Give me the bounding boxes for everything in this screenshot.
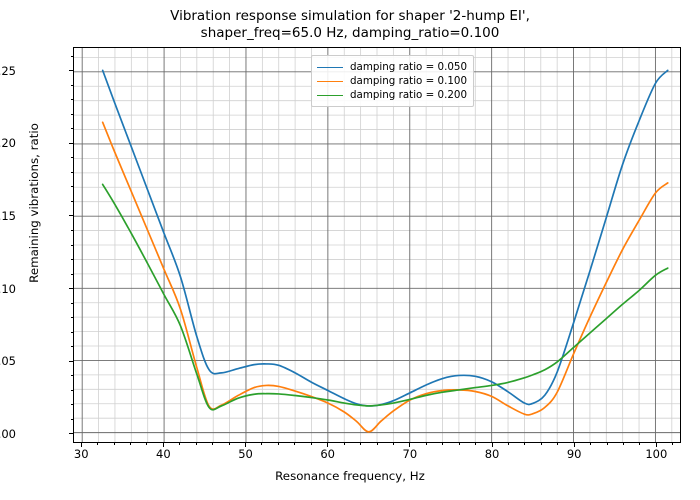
- x-minor-tick-mark: [508, 443, 509, 445]
- y-minor-tick-mark: [71, 99, 73, 100]
- y-tick-mark: [69, 143, 73, 144]
- x-minor-tick-mark: [196, 443, 197, 445]
- y-minor-tick-mark: [71, 186, 73, 187]
- y-minor-tick-mark: [71, 259, 73, 260]
- y-tick-mark: [69, 70, 73, 71]
- legend-item: damping ratio = 0.100: [317, 74, 467, 88]
- x-tick-mark: [327, 443, 328, 447]
- chart-title-line-1: Vibration response simulation for shaper…: [0, 8, 700, 25]
- x-tick-label: 70: [403, 447, 418, 461]
- x-tick-mark: [574, 443, 575, 447]
- y-minor-tick-mark: [71, 303, 73, 304]
- legend-line-swatch-2: [317, 95, 343, 96]
- figure-canvas: Vibration response simulation for shaper…: [0, 0, 700, 500]
- x-minor-tick-mark: [541, 443, 542, 445]
- series-path-2: [103, 184, 668, 409]
- x-minor-tick-mark: [459, 443, 460, 445]
- x-minor-tick-mark: [212, 443, 213, 445]
- y-tick-mark: [69, 215, 73, 216]
- legend-item: damping ratio = 0.200: [317, 88, 467, 102]
- y-tick-label: 0.20: [0, 136, 16, 150]
- x-tick-mark: [163, 443, 164, 447]
- series-path-1: [103, 122, 668, 432]
- x-tick-label: 90: [567, 447, 582, 461]
- x-minor-tick-mark: [639, 443, 640, 445]
- y-minor-tick-mark: [71, 346, 73, 347]
- legend-line-swatch-0: [317, 67, 343, 68]
- x-minor-tick-mark: [261, 443, 262, 445]
- x-minor-tick-mark: [278, 443, 279, 445]
- y-tick-label: 0.05: [0, 354, 16, 368]
- x-minor-tick-mark: [623, 443, 624, 445]
- x-minor-tick-mark: [442, 443, 443, 445]
- x-minor-tick-mark: [426, 443, 427, 445]
- y-minor-tick-mark: [71, 85, 73, 86]
- legend-label-1: damping ratio = 0.100: [350, 75, 467, 87]
- plot-area: damping ratio = 0.050 damping ratio = 0.…: [73, 47, 681, 443]
- x-minor-tick-mark: [607, 443, 608, 445]
- x-tick-mark: [245, 443, 246, 447]
- legend-label-2: damping ratio = 0.200: [350, 89, 467, 101]
- y-minor-tick-mark: [71, 114, 73, 115]
- y-tick-label: 0.00: [0, 427, 16, 441]
- x-tick-mark: [656, 443, 657, 447]
- x-minor-tick-mark: [179, 443, 180, 445]
- x-minor-tick-mark: [590, 443, 591, 445]
- x-minor-tick-mark: [229, 443, 230, 445]
- x-minor-tick-mark: [557, 443, 558, 445]
- y-minor-tick-mark: [71, 230, 73, 231]
- x-minor-tick-mark: [114, 443, 115, 445]
- y-tick-label: 0.10: [0, 282, 16, 296]
- x-minor-tick-mark: [475, 443, 476, 445]
- y-minor-tick-mark: [71, 201, 73, 202]
- x-tick-mark: [409, 443, 410, 447]
- y-minor-tick-mark: [71, 157, 73, 158]
- legend-label-0: damping ratio = 0.050: [350, 61, 467, 73]
- x-minor-tick-mark: [344, 443, 345, 445]
- x-minor-tick-mark: [524, 443, 525, 445]
- y-axis-label: Remaining vibrations, ratio: [27, 73, 41, 333]
- legend[interactable]: damping ratio = 0.050 damping ratio = 0.…: [311, 55, 474, 107]
- series-path-0: [103, 70, 668, 406]
- y-tick-mark: [69, 288, 73, 289]
- x-tick-label: 40: [156, 447, 171, 461]
- y-tick-label: 0.15: [0, 209, 16, 223]
- x-tick-label: 30: [74, 447, 89, 461]
- y-tick-mark: [69, 433, 73, 434]
- x-tick-mark: [492, 443, 493, 447]
- x-minor-tick-mark: [97, 443, 98, 445]
- y-minor-tick-mark: [71, 274, 73, 275]
- chart-title-line-2: shaper_freq=65.0 Hz, damping_ratio=0.100: [0, 25, 700, 42]
- x-tick-label: 80: [485, 447, 500, 461]
- y-minor-tick-mark: [71, 332, 73, 333]
- chart-title: Vibration response simulation for shaper…: [0, 8, 700, 42]
- x-tick-label: 60: [320, 447, 335, 461]
- y-tick-mark: [69, 361, 73, 362]
- x-tick-label: 50: [238, 447, 253, 461]
- x-minor-tick-mark: [377, 443, 378, 445]
- y-minor-tick-mark: [71, 375, 73, 376]
- x-tick-label: 100: [645, 447, 667, 461]
- data-curves: [74, 48, 680, 442]
- y-minor-tick-mark: [71, 404, 73, 405]
- legend-line-swatch-1: [317, 81, 343, 82]
- x-tick-mark: [81, 443, 82, 447]
- x-minor-tick-mark: [130, 443, 131, 445]
- x-minor-tick-mark: [393, 443, 394, 445]
- y-minor-tick-mark: [71, 317, 73, 318]
- legend-item: damping ratio = 0.050: [317, 60, 467, 74]
- x-minor-tick-mark: [146, 443, 147, 445]
- y-minor-tick-mark: [71, 419, 73, 420]
- x-minor-tick-mark: [294, 443, 295, 445]
- y-minor-tick-mark: [71, 128, 73, 129]
- y-minor-tick-mark: [71, 172, 73, 173]
- y-tick-label: 0.25: [0, 64, 16, 78]
- x-minor-tick-mark: [672, 443, 673, 445]
- x-minor-tick-mark: [360, 443, 361, 445]
- y-minor-tick-mark: [71, 390, 73, 391]
- x-minor-tick-mark: [311, 443, 312, 445]
- x-axis-label: Resonance frequency, Hz: [0, 469, 700, 483]
- y-minor-tick-mark: [71, 56, 73, 57]
- y-minor-tick-mark: [71, 245, 73, 246]
